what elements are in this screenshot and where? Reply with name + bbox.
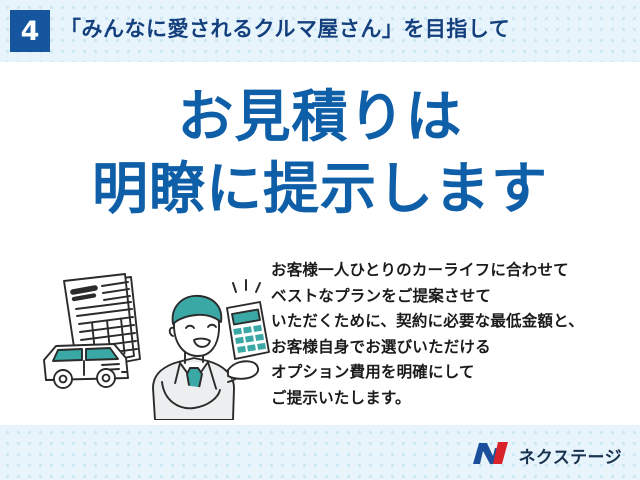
body-line-5: オプション費用を明確にして — [271, 360, 631, 386]
headline-line-1: お見積りは — [0, 86, 640, 151]
body-line-4: お客様自身でお選びいただける — [271, 335, 631, 361]
nextage-n-mark-icon — [471, 440, 511, 470]
nextage-logo: ネクステージ — [471, 440, 622, 470]
header-title: 「みんなに愛されるクルマ屋さん」を目指して — [60, 13, 510, 43]
headline-line-2: 明瞭に提示します — [0, 158, 640, 223]
headline: お見積りは 明瞭に提示します — [0, 86, 640, 223]
nextage-logo-text: ネクステージ — [518, 443, 622, 468]
body-line-3: いただくために、契約に必要な最低金額と、 — [271, 309, 631, 335]
advertisement-page: 4 「みんなに愛されるクルマ屋さん」を目指して お見積りは 明瞭に提示します — [0, 0, 640, 480]
sparkle-icon — [233, 280, 260, 292]
section-number-badge: 4 — [10, 10, 50, 52]
illustration-svg — [22, 262, 270, 420]
body-line-6: ご提示いたします。 — [271, 386, 631, 412]
body-line-2: ベストなプランをご提案させて — [271, 284, 631, 310]
van-icon — [44, 344, 128, 388]
body-copy: お客様一人ひとりのカーライフに合わせて ベストなプランをご提案させて いただくた… — [271, 258, 631, 411]
calculator-icon — [227, 302, 269, 359]
illustration — [22, 262, 270, 420]
body-line-1: お客様一人ひとりのカーライフに合わせて — [271, 258, 631, 284]
